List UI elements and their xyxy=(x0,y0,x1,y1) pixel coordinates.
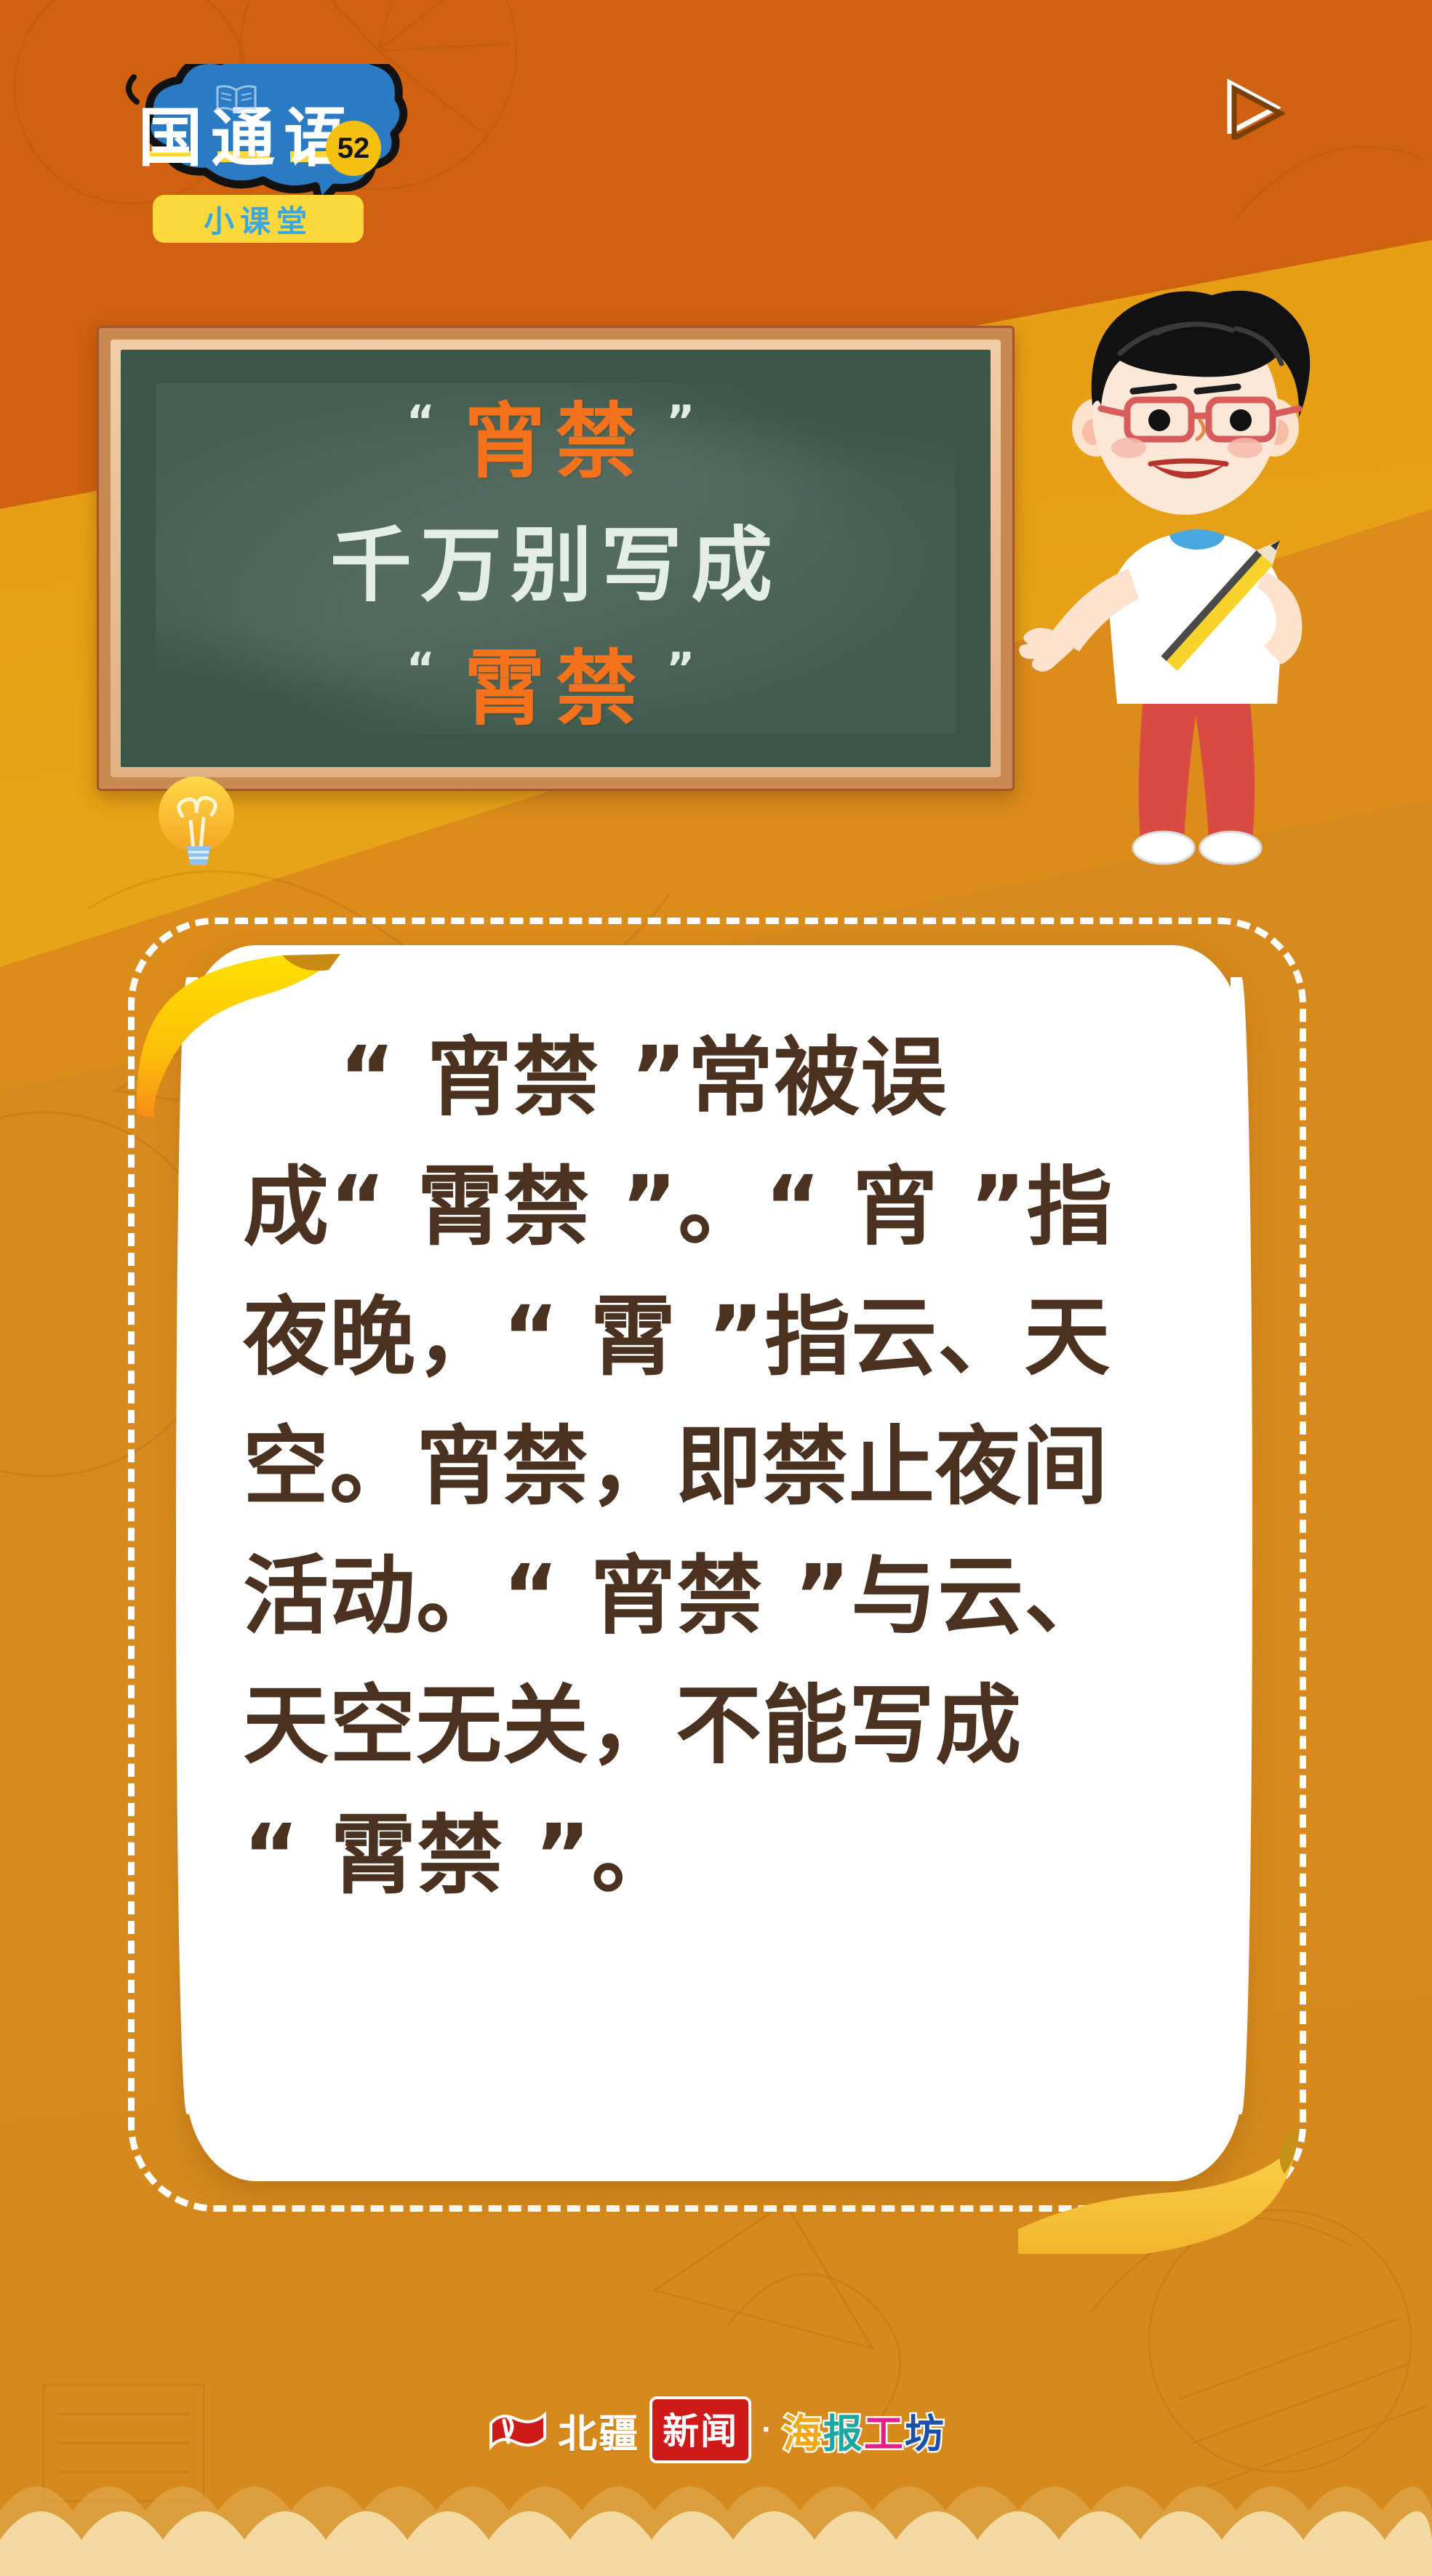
studio-char-2: 报 xyxy=(823,2402,864,2459)
ribbon-top-left xyxy=(129,947,348,1128)
blackboard: “ 宵禁 ” 千万别写成 “ 霄禁 ” xyxy=(97,326,1015,791)
studio-char-3: 工 xyxy=(864,2402,905,2459)
red-flag-icon xyxy=(487,2407,548,2452)
open-book-icon xyxy=(215,83,257,115)
play-triangle-icon[interactable] xyxy=(1225,79,1281,134)
logo-title-char-2: 通 xyxy=(211,106,276,170)
logo-title-char-1: 国 xyxy=(138,106,204,170)
brand-studio: 海 报 工 坊 xyxy=(783,2402,945,2459)
content-line-1: “ 宵禁 ”常被误 xyxy=(243,1015,1185,1140)
quote-open-1: “ xyxy=(407,396,445,447)
content-line-2: 成“ 霄禁 ”。“ 宵 ”指 xyxy=(243,1144,1185,1269)
content-line-3: 夜晚，“ 霄 ”指云、天 xyxy=(243,1275,1185,1400)
blackboard-line-2: 千万别写成 xyxy=(330,499,781,617)
brand-name: 北疆 xyxy=(558,2402,639,2459)
brand-news-badge: 新闻 xyxy=(649,2396,751,2463)
content-line-6: 天空无关，不能写成 xyxy=(243,1663,1185,1788)
blackboard-line-3-text: 霄禁 xyxy=(464,623,647,741)
footer-scallop xyxy=(0,2460,1432,2576)
studio-char-1: 海 xyxy=(783,2402,823,2459)
poster-root: 国 通 语 52 小课堂 “ 宵禁 ” 千万别写成 “ 霄禁 ” xyxy=(0,0,1432,2576)
boy-student-illustration xyxy=(1018,240,1353,909)
ribbon-bottom-right xyxy=(1018,2094,1302,2254)
logo-subtitle: 小课堂 xyxy=(153,195,364,243)
content-line-7: “ 霄禁 ”。 xyxy=(243,1793,1185,1918)
app-logo[interactable]: 国 通 语 52 小课堂 xyxy=(86,64,420,225)
content-card: “ 宵禁 ”常被误 成“ 霄禁 ”。“ 宵 ”指 夜晚，“ 霄 ”指云、天 空。… xyxy=(186,945,1242,2181)
content-card-body: “ 宵禁 ”常被误 成“ 霄禁 ”。“ 宵 ”指 夜晚，“ 霄 ”指云、天 空。… xyxy=(243,1015,1185,2127)
blackboard-line-1-text: 宵禁 xyxy=(464,376,647,494)
logo-episode-badge: 52 xyxy=(326,121,381,176)
blackboard-frame: “ 宵禁 ” 千万别写成 “ 霄禁 ” xyxy=(111,340,1001,777)
content-line-5: 活动。“ 宵禁 ”与云、 xyxy=(243,1533,1185,1658)
blackboard-line-3: “ 霄禁 ” xyxy=(388,623,724,741)
lightbulb-icon xyxy=(154,772,239,868)
quote-close-3: ” xyxy=(666,643,705,694)
brand-separator: · xyxy=(761,2412,772,2448)
blackboard-surface: “ 宵禁 ” 千万别写成 “ 霄禁 ” xyxy=(121,350,991,767)
blackboard-line-2-text: 千万别写成 xyxy=(330,499,781,617)
quote-close-1: ” xyxy=(666,396,705,447)
studio-char-4: 坊 xyxy=(905,2402,945,2459)
footer-brand: 北疆 新闻 · 海 报 工 坊 xyxy=(0,2396,1432,2463)
content-line-4: 空。宵禁，即禁止夜间 xyxy=(243,1404,1185,1529)
blackboard-line-1: “ 宵禁 ” xyxy=(388,376,724,494)
quote-open-3: “ xyxy=(407,643,445,694)
